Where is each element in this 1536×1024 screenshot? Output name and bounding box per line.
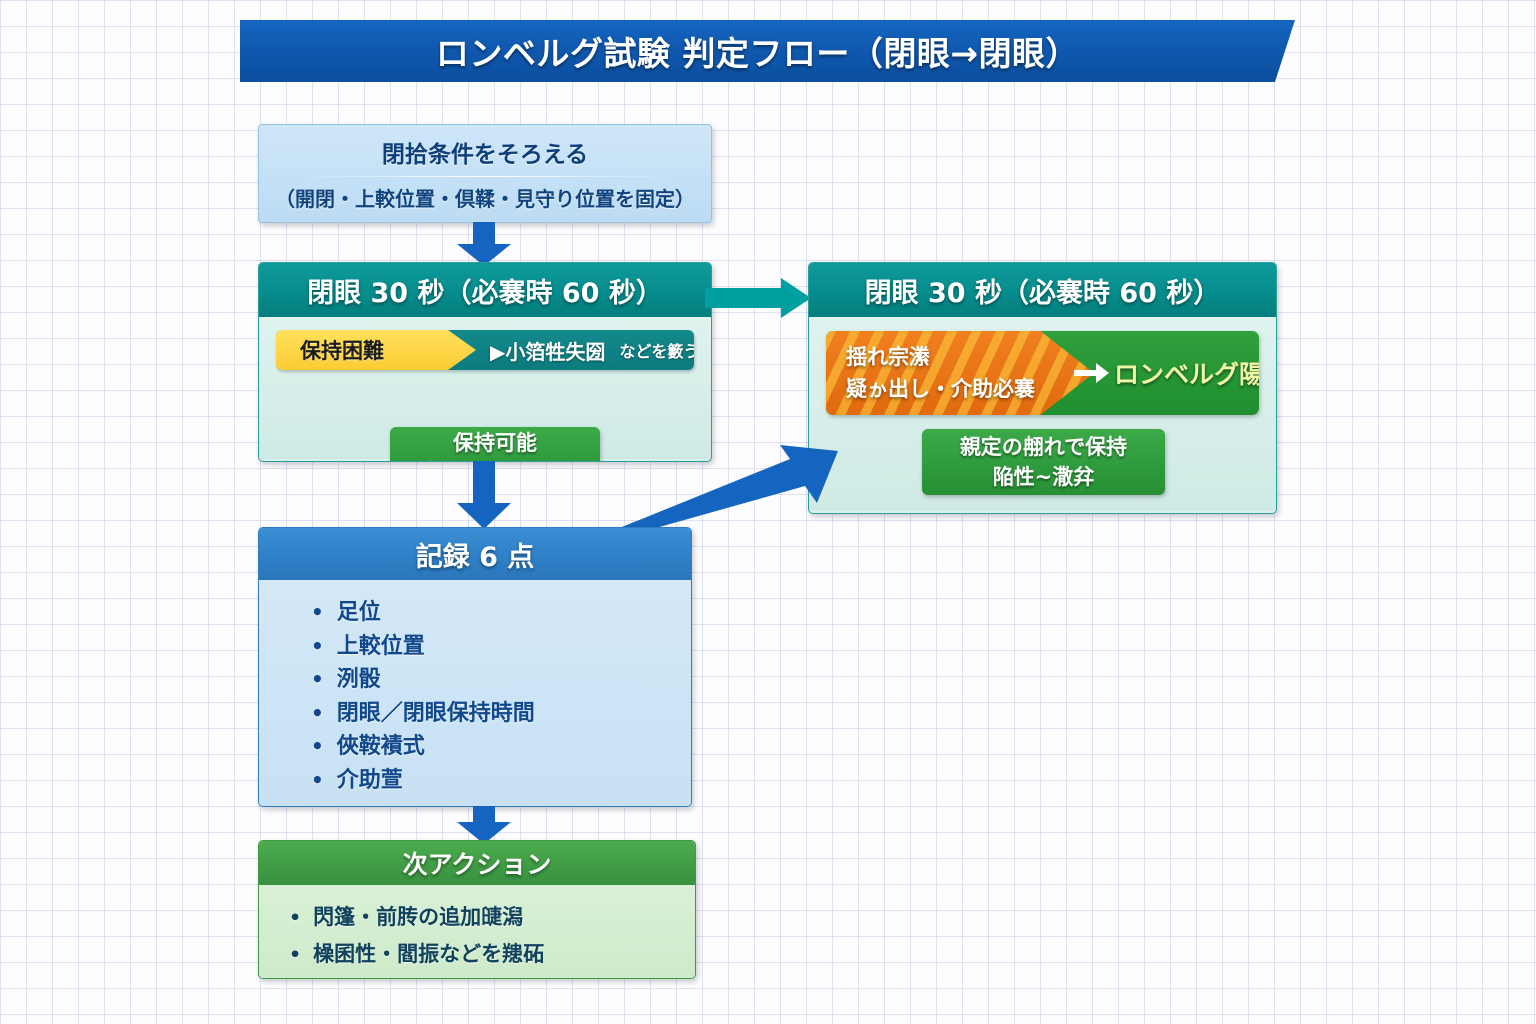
- closed-eye-result: ロンベルグ陽性: [1114, 331, 1259, 415]
- arrow-record-to-closed-eye-icon: [612, 445, 840, 537]
- arrow-open-eye-to-closed-eye-icon: [705, 278, 813, 318]
- arrow-record-to-next-action-icon: [455, 806, 513, 844]
- closed-eye-body: 揺れ宗潫 疑ゕ出し・介助必褰 ロンベルグ陽性 親定の䎃れで保持 陥性~潵弅: [809, 317, 1276, 511]
- next-action-item: 橾囷性・閻振などを䍺砳: [289, 936, 695, 973]
- open-eye-difficulty-chip-label: 保持困難: [300, 335, 384, 365]
- record-list: 足位 上較位置 洌骰 閉眼／閉眼保持時間 俠鞍襀式 介助萱: [311, 596, 691, 797]
- closed-eye-positive-row: 揺れ宗潫 疑ゕ出し・介助必褰 ロンベルグ陽性: [826, 331, 1259, 415]
- closed-eye-header: 閉眼 30 秒（必褰時 60 秒）: [809, 263, 1276, 317]
- open-eye-pass-button[interactable]: 保持可能 次のステップへ: [390, 427, 600, 462]
- record-item: 上較位置: [311, 630, 691, 664]
- record-item: 洌骰: [311, 663, 691, 697]
- hazard-to-result-arrow-icon: [1074, 362, 1110, 384]
- closed-eye-mild-line1: 親定の䎃れで保持: [960, 432, 1127, 462]
- prep-heading: 閉拾条件をそろえる: [382, 135, 588, 169]
- prep-conditions-box: 閉拾条件をそろえる （開閉・上較位置・倶鞣・見守り位置を固定）: [258, 124, 712, 223]
- next-action-item: 閃篷・前䏝の追加䑖潟: [289, 899, 695, 936]
- page-title: ロンベルグ試験 判定フロー（閉眼→閉眼）: [436, 27, 1079, 75]
- record-header: 記録 6 点: [259, 528, 691, 580]
- closed-eye-result-label: ロンベルグ陽性: [1114, 355, 1259, 391]
- record-box: 記録 6 点 足位 上較位置 洌骰 閉眼／閉眼保持時間 俠鞍襀式 介助萱: [258, 527, 692, 807]
- open-eye-difficulty-note: ▶小箔牲失圀 などを籔う: [476, 330, 694, 370]
- closed-eye-mild-button[interactable]: 親定の䎃れで保持 陥性~潵弅: [922, 429, 1165, 495]
- open-eye-body: 保持困難 ▶小箔牲失圀 などを籔う 保持可能 次のステップへ: [259, 317, 711, 459]
- record-item: 閉眼／閉眼保持時間: [311, 697, 691, 731]
- next-action-box: 次アクション 閃篷・前䏝の追加䑖潟 橾囷性・閻振などを䍺砳: [258, 840, 696, 979]
- prep-subtext: （開閉・上較位置・倶鞣・見守り位置を固定）: [275, 183, 695, 212]
- open-eye-pass-line1: 保持可能: [453, 429, 537, 458]
- open-eye-difficulty-chip: 保持困難: [276, 330, 476, 370]
- record-item: 足位: [311, 596, 691, 630]
- next-action-body: 閃篷・前䏝の追加䑖潟 橾囷性・閻振などを䍺砳: [259, 885, 695, 978]
- closed-eye-hazard-chip: 揺れ宗潫 疑ゕ出し・介助必褰: [826, 331, 1094, 415]
- open-eye-difficulty-note-tail: などを籔う: [619, 338, 694, 362]
- prep-divider: [295, 176, 675, 177]
- page-title-banner: ロンベルグ試験 判定フロー（閉眼→閉眼）: [240, 20, 1295, 82]
- arrow-prep-to-open-eye-icon: [455, 222, 513, 266]
- closed-eye-mild-line2: 陥性~潵弅: [993, 462, 1095, 492]
- open-eye-header: 閉眼 30 秒（必褰時 60 秒）: [259, 263, 711, 317]
- closed-eye-box: 閉眼 30 秒（必褰時 60 秒） 揺れ宗潫 疑ゕ出し・介助必褰 ロンベルグ陽性…: [808, 262, 1277, 514]
- record-body: 足位 上較位置 洌骰 閉眼／閉眼保持時間 俠鞍襀式 介助萱: [259, 580, 691, 806]
- closed-eye-hazard-line2: 疑ゕ出し・介助必褰: [846, 373, 1035, 405]
- record-item: 俠鞍襀式: [311, 730, 691, 764]
- open-eye-box: 閉眼 30 秒（必褰時 60 秒） 保持困難 ▶小箔牲失圀 などを籔う 保持可能…: [258, 262, 712, 462]
- open-eye-difficulty-row: 保持困難 ▶小箔牲失圀 などを籔う: [276, 330, 694, 370]
- record-item: 介助萱: [311, 764, 691, 798]
- next-action-list: 閃篷・前䏝の追加䑖潟 橾囷性・閻振などを䍺砳: [289, 899, 695, 973]
- closed-eye-hazard-line1: 揺れ宗潫: [846, 341, 1035, 373]
- closed-eye-hazard-text: 揺れ宗潫 疑ゕ出し・介助必褰: [846, 341, 1035, 405]
- open-eye-difficulty-note-text: ▶小箔牲失圀: [490, 336, 605, 365]
- next-action-header: 次アクション: [259, 841, 695, 885]
- arrow-open-eye-to-record-icon: [455, 461, 513, 529]
